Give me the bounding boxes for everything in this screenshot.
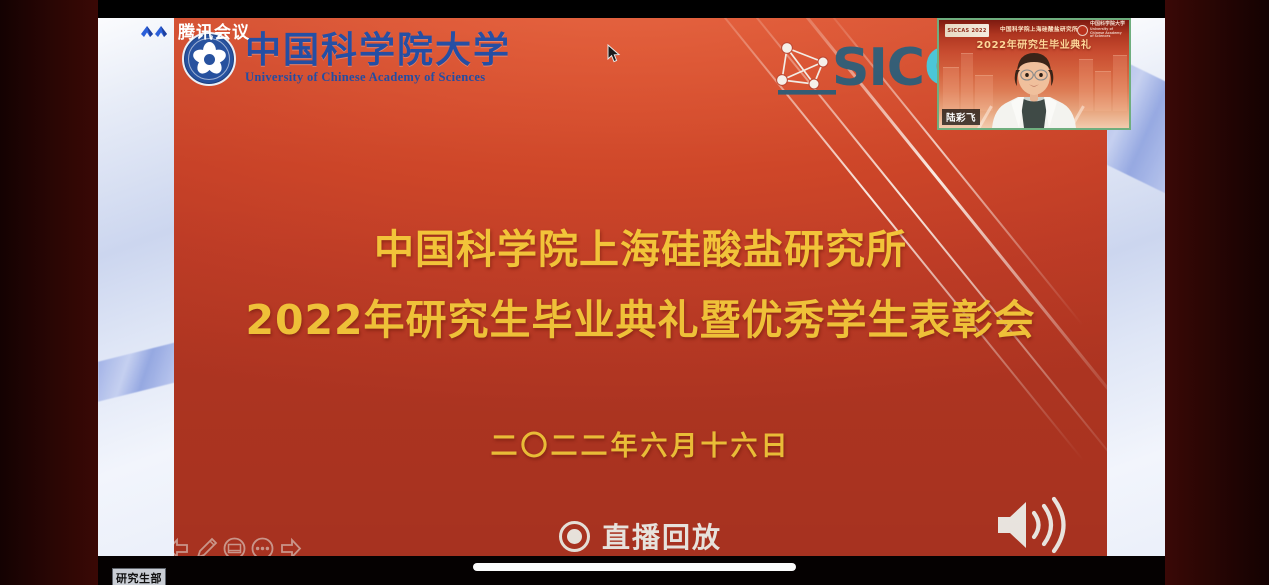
participant-video-tile[interactable]: SICCAS 2022 中国科学院上海硅酸盐研究所 中国科学院大学 Univer… [937,18,1131,130]
pen-annotate-icon[interactable] [194,536,219,556]
tencent-meeting-brand: 腾讯会议 [140,18,250,43]
more-options-icon[interactable] [250,536,275,556]
letterbox-left [0,0,98,585]
taskbar-item-graduate-department[interactable]: 研究生部 [112,568,166,585]
record-radio-icon [559,521,590,552]
pip-bg-building [1113,55,1127,111]
screen-share-view: 中国科学院大学 University of Chinese Academy of… [0,0,1269,585]
home-indicator-bar[interactable] [473,563,796,571]
live-replay-badge: 直播回放 [174,516,1107,556]
pip-bg-building [943,67,959,111]
next-slide-arrow-icon[interactable] [278,536,303,556]
pip-right-badge-seal-icon [1077,25,1088,36]
participant-name-label: 陆彩飞 [942,109,980,125]
ucas-name-cn: 中国科学院大学 [245,33,511,69]
slide-date: 二〇二二年六月十六日 [174,424,1107,463]
slide-title-line-2: 2022年研究生毕业典礼暨优秀学生表彰会 [174,286,1107,346]
volume-speaker-icon [994,494,1066,556]
live-replay-label: 直播回放 [602,516,722,556]
letterbox-right [1165,0,1269,585]
desktop-wallpaper-left [98,0,174,585]
powerpoint-slideshow-toolbar[interactable] [174,536,303,556]
tencent-meeting-chevron-logo [140,22,170,40]
previous-slide-arrow-icon[interactable] [174,536,191,556]
pip-bg-building [961,53,973,111]
letterbox-top [98,0,1165,18]
pip-bg-building [1095,71,1111,111]
tencent-meeting-name: 腾讯会议 [178,18,250,43]
siccas-word-part1: SIC [832,38,924,98]
siccas-tetrahedron-icon [774,40,836,96]
slide-menu-icon[interactable] [222,536,247,556]
participant-avatar-video [986,46,1082,128]
ucas-name-en: University of Chinese Academy of Science… [245,70,511,85]
mouse-pointer-cursor [607,44,621,63]
slide-title-line-1: 中国科学院上海硅酸盐研究所 [174,217,1107,275]
